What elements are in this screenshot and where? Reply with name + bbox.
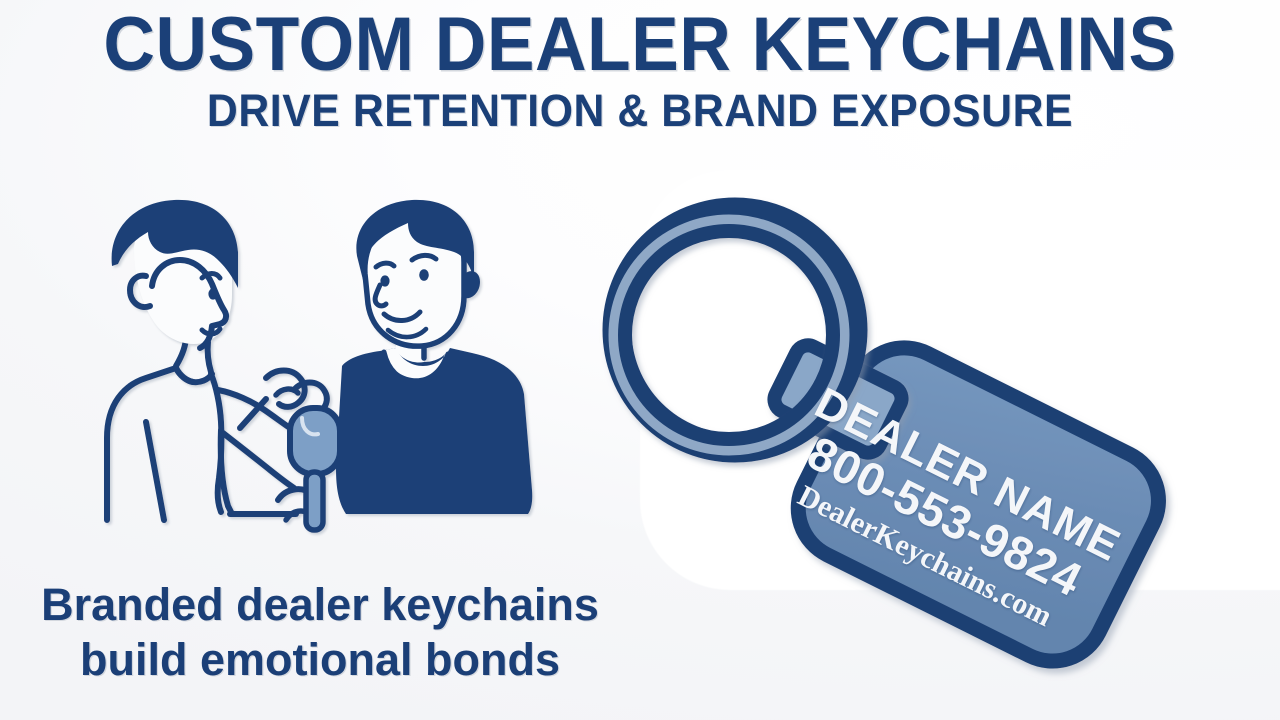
promo-graphic-canvas: CUSTOM DEALER KEYCHAINS DRIVE RETENTION … bbox=[0, 0, 1280, 720]
caption-line-1: Branded dealer keychains bbox=[10, 578, 630, 633]
customer-neck-front bbox=[208, 342, 211, 372]
key-ring-inner-dark bbox=[625, 231, 833, 439]
people-illustration-svg bbox=[80, 190, 560, 550]
salesperson-eye-right bbox=[419, 269, 429, 281]
car-key-fob-body bbox=[290, 408, 340, 474]
salesperson-ear bbox=[464, 271, 480, 298]
customer-eye bbox=[208, 288, 217, 299]
caption-line-2: build emotional bonds bbox=[10, 633, 630, 688]
header-block: CUSTOM DEALER KEYCHAINS DRIVE RETENTION … bbox=[0, 8, 1280, 133]
salesperson-torso bbox=[336, 348, 532, 514]
page-title: CUSTOM DEALER KEYCHAINS bbox=[38, 8, 1241, 82]
customer-shoulder-top bbox=[176, 368, 212, 382]
customer-shirt-fold bbox=[146, 422, 164, 520]
caption-block: Branded dealer keychains build emotional… bbox=[10, 578, 630, 688]
page-subtitle: DRIVE RETENTION & BRAND EXPOSURE bbox=[32, 88, 1248, 133]
keychain-svg bbox=[580, 185, 1260, 685]
car-key-blade bbox=[306, 472, 323, 530]
customer-arm-bottom bbox=[223, 433, 294, 488]
customer-forearm bbox=[221, 430, 232, 514]
keychain-illustration bbox=[580, 185, 1260, 685]
key-ring-group bbox=[617, 212, 853, 448]
people-illustration bbox=[80, 190, 560, 550]
